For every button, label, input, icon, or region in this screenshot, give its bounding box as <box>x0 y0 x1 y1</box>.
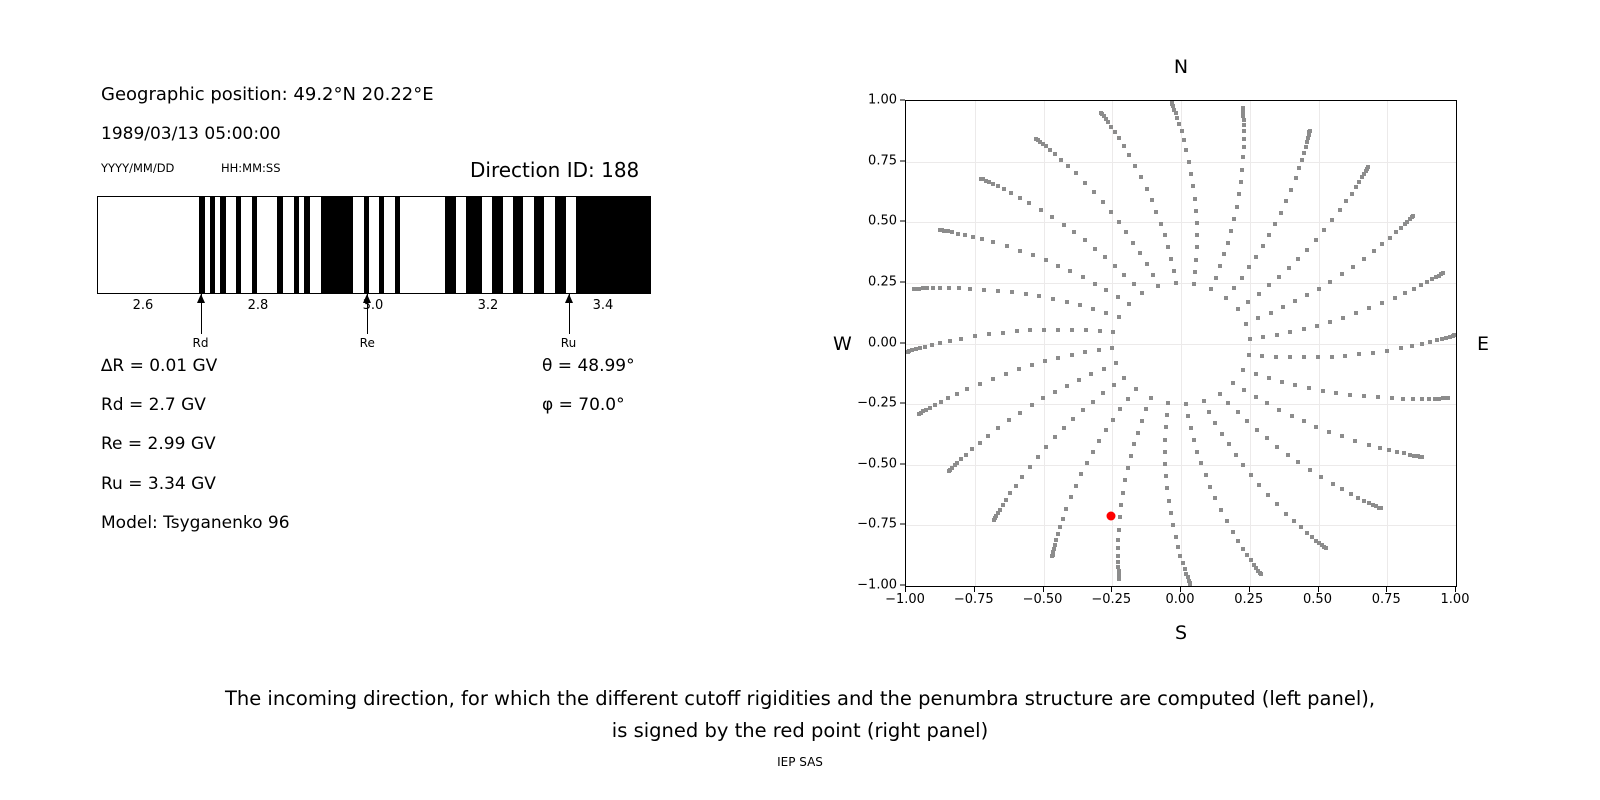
direction-point <box>1267 233 1271 237</box>
direction-point <box>1154 210 1158 214</box>
y-axis-tick-label: −0.50 <box>857 456 897 471</box>
direction-point <box>1180 129 1184 133</box>
y-axis-tick-mark <box>900 160 905 161</box>
direction-point <box>1274 355 1278 359</box>
direction-point <box>1403 291 1407 295</box>
direction-point <box>1097 439 1101 443</box>
direction-point <box>1056 532 1060 536</box>
direction-point <box>1112 383 1116 387</box>
direction-point <box>1297 166 1301 170</box>
direction-point <box>1351 265 1355 269</box>
direction-point <box>1362 394 1366 398</box>
direction-point <box>1004 498 1008 502</box>
direction-point <box>1353 439 1357 443</box>
direction-point <box>1340 434 1344 438</box>
x-axis-tick-mark <box>905 587 906 592</box>
penumbra-forbidden-band <box>304 197 309 293</box>
direction-point <box>1427 397 1431 401</box>
direction-point <box>1279 211 1283 215</box>
direction-point <box>1394 230 1398 234</box>
direction-point <box>1170 100 1174 104</box>
direction-point <box>1452 333 1456 337</box>
direction-point <box>1354 185 1358 189</box>
direction-point <box>1187 160 1191 164</box>
direction-point <box>1257 292 1261 296</box>
direction-point <box>1109 210 1113 214</box>
direction-point <box>1324 546 1328 550</box>
direction-point <box>1321 389 1325 393</box>
direction-point <box>1030 403 1034 407</box>
direction-point <box>1065 384 1069 388</box>
direction-point <box>1036 455 1040 459</box>
direction-point <box>1428 340 1432 344</box>
param-rd: Rd = 2.7 GV <box>101 395 206 415</box>
direction-point <box>1411 214 1415 218</box>
direction-point <box>921 286 925 290</box>
gridline-horizontal <box>906 222 1456 223</box>
direction-point <box>1017 367 1021 371</box>
direction-point <box>1116 546 1120 550</box>
direction-point <box>1302 327 1306 331</box>
figure-caption: The incoming direction, for which the di… <box>0 683 1600 747</box>
y-axis-tick-label: −1.00 <box>857 578 897 593</box>
direction-point <box>996 426 1000 430</box>
direction-point <box>1267 376 1271 380</box>
direction-point <box>1126 466 1130 470</box>
direction-point <box>1317 287 1321 291</box>
direction-point <box>1069 495 1073 499</box>
x-axis-tick-mark <box>1249 587 1250 592</box>
x-axis-tick-mark <box>1386 587 1387 592</box>
direction-point <box>1127 153 1131 157</box>
direction-point <box>1129 454 1133 458</box>
compass-label-east: E <box>1477 333 1489 355</box>
direction-point <box>986 434 990 438</box>
direction-point <box>996 184 1000 188</box>
direction-point <box>1118 407 1122 411</box>
direction-point <box>1099 111 1103 115</box>
direction-point <box>931 286 935 290</box>
direction-point <box>1117 136 1121 140</box>
direction-point <box>956 232 960 236</box>
direction-point <box>1393 296 1397 300</box>
direction-point <box>946 229 950 233</box>
direction-id-label: Direction ID: 188 <box>470 158 639 182</box>
direction-point <box>980 237 984 241</box>
direction-point <box>1435 338 1439 342</box>
direction-point <box>1261 335 1265 339</box>
direction-point <box>1015 329 1019 333</box>
direction-point <box>1122 144 1126 148</box>
direction-point <box>1314 425 1318 429</box>
direction-point <box>1280 380 1284 384</box>
direction-point <box>1307 386 1311 390</box>
direction-point <box>1372 249 1376 253</box>
direction-point <box>1001 331 1005 335</box>
direction-point <box>1132 442 1136 446</box>
direction-point <box>938 286 942 290</box>
direction-point <box>1083 181 1087 185</box>
direction-point <box>1235 205 1239 209</box>
direction-point <box>1059 158 1063 162</box>
param-theta: θ = 48.99° <box>542 356 635 376</box>
direction-point <box>1113 264 1117 268</box>
direction-point <box>1259 572 1263 576</box>
direction-point <box>918 346 922 350</box>
direction-point <box>965 387 969 391</box>
x-axis-tick-mark <box>1043 587 1044 592</box>
direction-point <box>1315 324 1319 328</box>
direction-point <box>968 287 972 291</box>
direction-point <box>1093 247 1097 251</box>
direction-point <box>1245 553 1249 557</box>
direction-point <box>1195 450 1199 454</box>
direction-point <box>1257 483 1261 487</box>
direction-point <box>1411 397 1415 401</box>
footer-credit: IEP SAS <box>0 755 1600 769</box>
direction-point <box>1091 307 1095 311</box>
direction-point <box>1122 273 1126 277</box>
direction-point <box>1402 451 1406 455</box>
direction-point <box>1237 192 1241 196</box>
y-axis-tick-label: −0.25 <box>857 396 897 411</box>
direction-point <box>1041 396 1045 400</box>
direction-point <box>1236 410 1240 414</box>
direction-point <box>1048 148 1052 152</box>
penumbra-forbidden-band <box>321 197 354 293</box>
direction-point <box>1079 472 1083 476</box>
x-axis-tick-label: 0.25 <box>1234 592 1263 607</box>
gridline-horizontal <box>906 525 1456 526</box>
direction-point <box>1104 428 1108 432</box>
direction-point <box>957 286 961 290</box>
direction-point <box>1072 230 1076 234</box>
penumbra-forbidden-band <box>395 197 400 293</box>
direction-point <box>1056 356 1060 360</box>
penumbra-tick-label: 2.6 <box>133 298 154 313</box>
penumbra-forbidden-band <box>492 197 502 293</box>
direction-point <box>991 377 995 381</box>
penumbra-forbidden-band <box>576 197 650 293</box>
direction-point <box>1116 295 1120 299</box>
direction-point <box>1165 486 1169 490</box>
direction-point <box>1254 372 1258 376</box>
x-axis-tick-label: 0.00 <box>1166 592 1195 607</box>
direction-point <box>1018 196 1022 200</box>
direction-point <box>1109 125 1113 129</box>
direction-point <box>1410 344 1414 348</box>
direction-point <box>938 228 942 232</box>
direction-point <box>1220 432 1224 436</box>
y-axis-tick-mark <box>900 100 905 101</box>
direction-point <box>1328 280 1332 284</box>
direction-point <box>1376 395 1380 399</box>
direction-point <box>1102 367 1106 371</box>
direction-point <box>991 182 995 186</box>
direction-point <box>1188 583 1192 587</box>
right-panel: N S W E −1.00−0.75−0.50−0.250.000.250.50… <box>800 0 1600 660</box>
direction-point <box>1050 554 1054 558</box>
datetime-value: 1989/03/13 05:00:00 <box>101 124 281 144</box>
direction-point <box>1419 283 1423 287</box>
direction-point <box>1163 233 1167 237</box>
direction-point <box>1164 425 1168 429</box>
direction-point <box>1277 275 1281 279</box>
direction-point <box>959 457 963 461</box>
direction-point <box>1249 473 1253 477</box>
direction-point <box>1387 448 1391 452</box>
direction-point <box>1020 475 1024 479</box>
direction-point <box>1005 244 1009 248</box>
direction-point <box>1053 435 1057 439</box>
direction-point <box>1097 348 1101 352</box>
compass-label-west: W <box>833 333 852 355</box>
penumbra-marker-ru <box>569 294 570 334</box>
penumbra-forbidden-band <box>199 197 204 293</box>
direction-point <box>933 403 937 407</box>
direction-point <box>1118 515 1122 519</box>
penumbra-marker-label-re: Re <box>360 336 375 350</box>
direction-point <box>1248 337 1252 341</box>
direction-point <box>1093 282 1097 286</box>
direction-point <box>1349 492 1353 496</box>
direction-point <box>1124 230 1128 234</box>
direction-point <box>1043 359 1047 363</box>
gridline-horizontal <box>906 404 1456 405</box>
direction-point <box>1219 508 1223 512</box>
y-axis-tick-label: 0.75 <box>868 153 897 168</box>
direction-point <box>1195 221 1199 225</box>
direction-point <box>1214 276 1218 280</box>
direction-point <box>1037 294 1041 298</box>
direction-point <box>1193 270 1197 274</box>
direction-point <box>1050 215 1054 219</box>
direction-point <box>1362 257 1366 261</box>
direction-point <box>1331 482 1335 486</box>
direction-point <box>1186 414 1190 418</box>
param-model: Model: Tsyganenko 96 <box>101 513 290 533</box>
y-axis-tick-label: 0.25 <box>868 274 897 289</box>
direction-point <box>1420 397 1424 401</box>
direction-point <box>1117 315 1121 319</box>
y-axis-tick-label: 0.00 <box>868 335 897 350</box>
penumbra-tick-label: 3.4 <box>593 298 614 313</box>
direction-point <box>1288 355 1292 359</box>
direction-point <box>1169 511 1173 515</box>
direction-point <box>1275 445 1279 449</box>
direction-point <box>906 350 910 354</box>
direction-point <box>971 235 975 239</box>
direction-point <box>1286 453 1290 457</box>
direction-point <box>1209 287 1213 291</box>
direction-point <box>1014 484 1018 488</box>
direction-point <box>1226 241 1230 245</box>
x-axis-tick-mark <box>974 587 975 592</box>
penumbra-forbidden-band <box>445 197 456 293</box>
direction-point <box>1208 485 1212 489</box>
direction-point <box>1305 140 1309 144</box>
caption-line-2: is signed by the red point (right panel) <box>0 715 1600 747</box>
direction-point <box>1260 354 1264 358</box>
direction-point <box>1174 111 1178 115</box>
y-axis-tick-mark <box>900 403 905 404</box>
penumbra-forbidden-band <box>534 197 544 293</box>
direction-point <box>1051 297 1055 301</box>
direction-point <box>1420 455 1424 459</box>
direction-point <box>1008 491 1012 495</box>
direction-point <box>1367 306 1371 310</box>
direction-point <box>1111 418 1115 422</box>
direction-point <box>978 441 982 445</box>
direction-point <box>1356 496 1360 500</box>
direction-point <box>1204 473 1208 477</box>
direction-point <box>955 392 959 396</box>
direction-point <box>1242 129 1246 133</box>
direction-point <box>1241 155 1245 159</box>
direction-point <box>1241 547 1245 551</box>
direction-point <box>1246 300 1250 304</box>
direction-point <box>1231 530 1235 534</box>
direction-point <box>1344 199 1348 203</box>
x-axis-tick-label: 1.00 <box>1441 592 1470 607</box>
direction-point <box>1299 525 1303 529</box>
direction-point <box>1241 368 1245 372</box>
direction-point <box>973 334 977 338</box>
direction-point <box>1296 257 1300 261</box>
direction-point <box>1145 262 1149 266</box>
direction-point <box>1401 397 1405 401</box>
direction-point <box>1034 137 1038 141</box>
x-axis-tick-label: 0.75 <box>1372 592 1401 607</box>
penumbra-forbidden-band <box>379 197 384 293</box>
direction-point <box>1007 418 1011 422</box>
y-axis-tick-mark <box>900 463 905 464</box>
direction-point <box>1385 349 1389 353</box>
direction-point <box>939 400 943 404</box>
direction-point <box>1293 299 1297 303</box>
x-axis-tick-label: 0.50 <box>1303 592 1332 607</box>
x-axis-tick-label: −0.75 <box>954 592 994 607</box>
direction-point <box>948 339 952 343</box>
direction-point <box>982 288 986 292</box>
direction-point <box>1275 502 1279 506</box>
direction-point <box>1121 491 1125 495</box>
direction-point <box>1092 190 1096 194</box>
direction-point <box>1117 220 1121 224</box>
direction-point <box>1247 353 1251 357</box>
direction-point <box>1399 226 1403 230</box>
direction-point <box>979 177 983 181</box>
penumbra-forbidden-band <box>210 197 215 293</box>
date-format-hint: YYYY/MM/DD <box>101 161 174 175</box>
direction-point <box>1071 417 1075 421</box>
direction-point <box>1062 426 1066 430</box>
direction-point <box>1294 176 1298 180</box>
direction-point <box>1350 192 1354 196</box>
direction-point <box>1145 187 1149 191</box>
compass-label-south: S <box>1175 622 1187 644</box>
direction-point <box>1380 301 1384 305</box>
direction-point <box>1231 381 1235 385</box>
direction-point <box>1367 443 1371 447</box>
direction-point <box>1167 499 1171 503</box>
direction-point <box>1195 245 1199 249</box>
direction-point <box>1284 199 1288 203</box>
direction-point <box>1172 269 1176 273</box>
direction-point <box>1305 293 1309 297</box>
direction-point <box>1062 223 1066 227</box>
direction-point <box>1218 392 1222 396</box>
direction-point <box>1227 442 1231 446</box>
direction-point <box>1056 328 1060 332</box>
direction-point <box>1122 376 1126 380</box>
direction-point <box>1117 577 1121 581</box>
param-ru: Ru = 3.34 GV <box>101 474 216 494</box>
direction-point <box>1241 463 1245 467</box>
direction-point <box>1240 276 1244 280</box>
direction-point <box>1091 400 1095 404</box>
direction-point <box>1103 255 1107 259</box>
direction-point <box>1030 363 1034 367</box>
direction-point <box>1044 445 1048 449</box>
direction-point <box>1425 280 1429 284</box>
direction-point <box>1275 333 1279 337</box>
direction-point <box>1053 390 1057 394</box>
direction-point <box>1031 253 1035 257</box>
direction-point <box>959 337 963 341</box>
time-format-hint: HH:MM:SS <box>221 161 281 175</box>
direction-point <box>1116 538 1120 542</box>
direction-point <box>1213 421 1217 425</box>
direction-point <box>1194 258 1198 262</box>
direction-point <box>1110 346 1114 350</box>
direction-point <box>1289 188 1293 192</box>
direction-point <box>938 341 942 345</box>
direction-point <box>1296 460 1300 464</box>
penumbra-marker-label-ru: Ru <box>561 336 576 350</box>
direction-point <box>1441 271 1445 275</box>
penumbra-forbidden-band <box>466 197 482 293</box>
direction-point <box>923 345 927 349</box>
penumbra-marker-re <box>367 294 368 334</box>
direction-point <box>1074 171 1078 175</box>
direction-point <box>1308 129 1312 133</box>
direction-point <box>963 233 967 237</box>
penumbra-forbidden-band <box>364 197 369 293</box>
direction-point <box>1053 152 1057 156</box>
direction-point <box>1183 567 1187 571</box>
direction-point <box>1241 106 1245 110</box>
gridline-horizontal <box>906 344 1456 345</box>
direction-point <box>978 382 982 386</box>
gridline-horizontal <box>906 465 1456 466</box>
direction-point <box>1044 258 1048 262</box>
direction-point <box>1169 257 1173 261</box>
x-axis-tick-label: −0.50 <box>1023 592 1063 607</box>
direction-point <box>1056 264 1060 268</box>
direction-point <box>1166 401 1170 405</box>
direction-point <box>1244 322 1248 326</box>
direction-point <box>1273 222 1277 226</box>
caption-line-1: The incoming direction, for which the di… <box>0 683 1600 715</box>
direction-point <box>1085 461 1089 465</box>
x-axis-tick-label: −0.25 <box>1091 592 1131 607</box>
direction-point <box>1164 474 1168 478</box>
direction-point <box>1089 372 1093 376</box>
direction-point <box>1159 222 1163 226</box>
direction-point <box>996 289 1000 293</box>
direction-point <box>1009 191 1013 195</box>
